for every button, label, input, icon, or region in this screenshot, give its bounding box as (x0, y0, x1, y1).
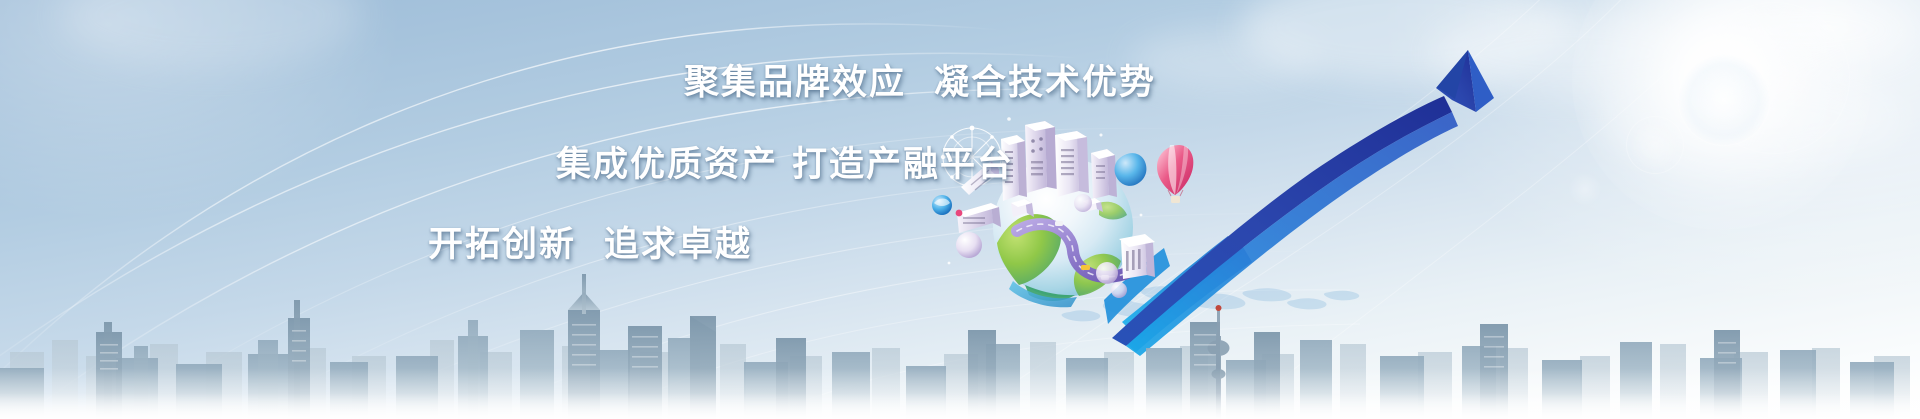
city-skyline-silhouette (0, 0, 1920, 419)
hero-banner: 聚集品牌效应凝合技术优势 集成优质资产打造产融平台 开拓创新追求卓越 (0, 0, 1920, 419)
skyline-haze (0, 393, 1920, 419)
